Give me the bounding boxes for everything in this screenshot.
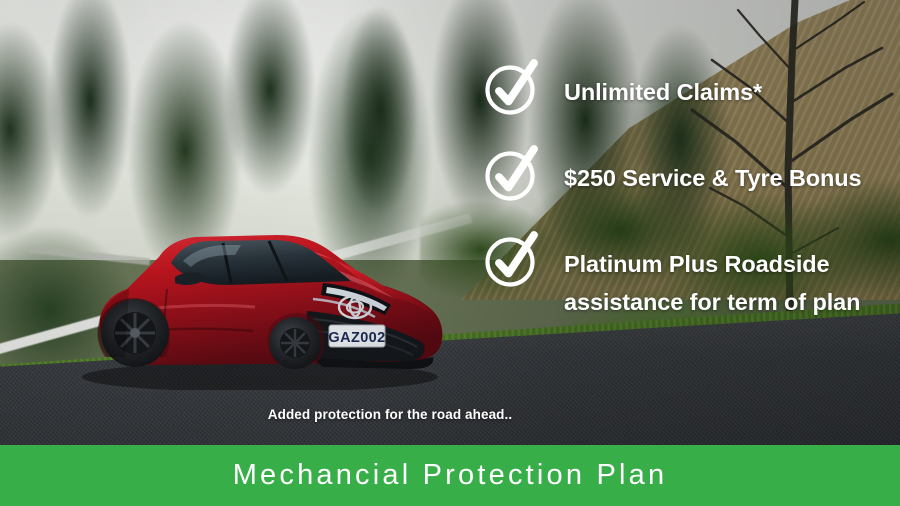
plan-title: Mechancial Protection Plan xyxy=(233,459,668,492)
promo-banner: GAZ002 xyxy=(0,0,900,506)
benefit-item: $250 Service & Tyre Bonus xyxy=(484,152,894,208)
check-circle-icon xyxy=(484,146,540,202)
benefit-label: Platinum Plus Roadside assistance for te… xyxy=(564,238,860,321)
footer-banner: Mechancial Protection Plan xyxy=(0,445,900,506)
benefit-label: Unlimited Claims* xyxy=(564,66,762,111)
check-circle-icon xyxy=(484,232,540,288)
benefit-label: $250 Service & Tyre Bonus xyxy=(564,152,862,197)
tagline: Added protection for the road ahead.. xyxy=(0,407,780,422)
check-circle-icon xyxy=(484,60,540,116)
benefit-item: Platinum Plus Roadside assistance for te… xyxy=(484,238,894,321)
benefits-list: Unlimited Claims* $250 Service & Tyre Bo… xyxy=(484,66,894,321)
benefit-item: Unlimited Claims* xyxy=(484,66,894,122)
